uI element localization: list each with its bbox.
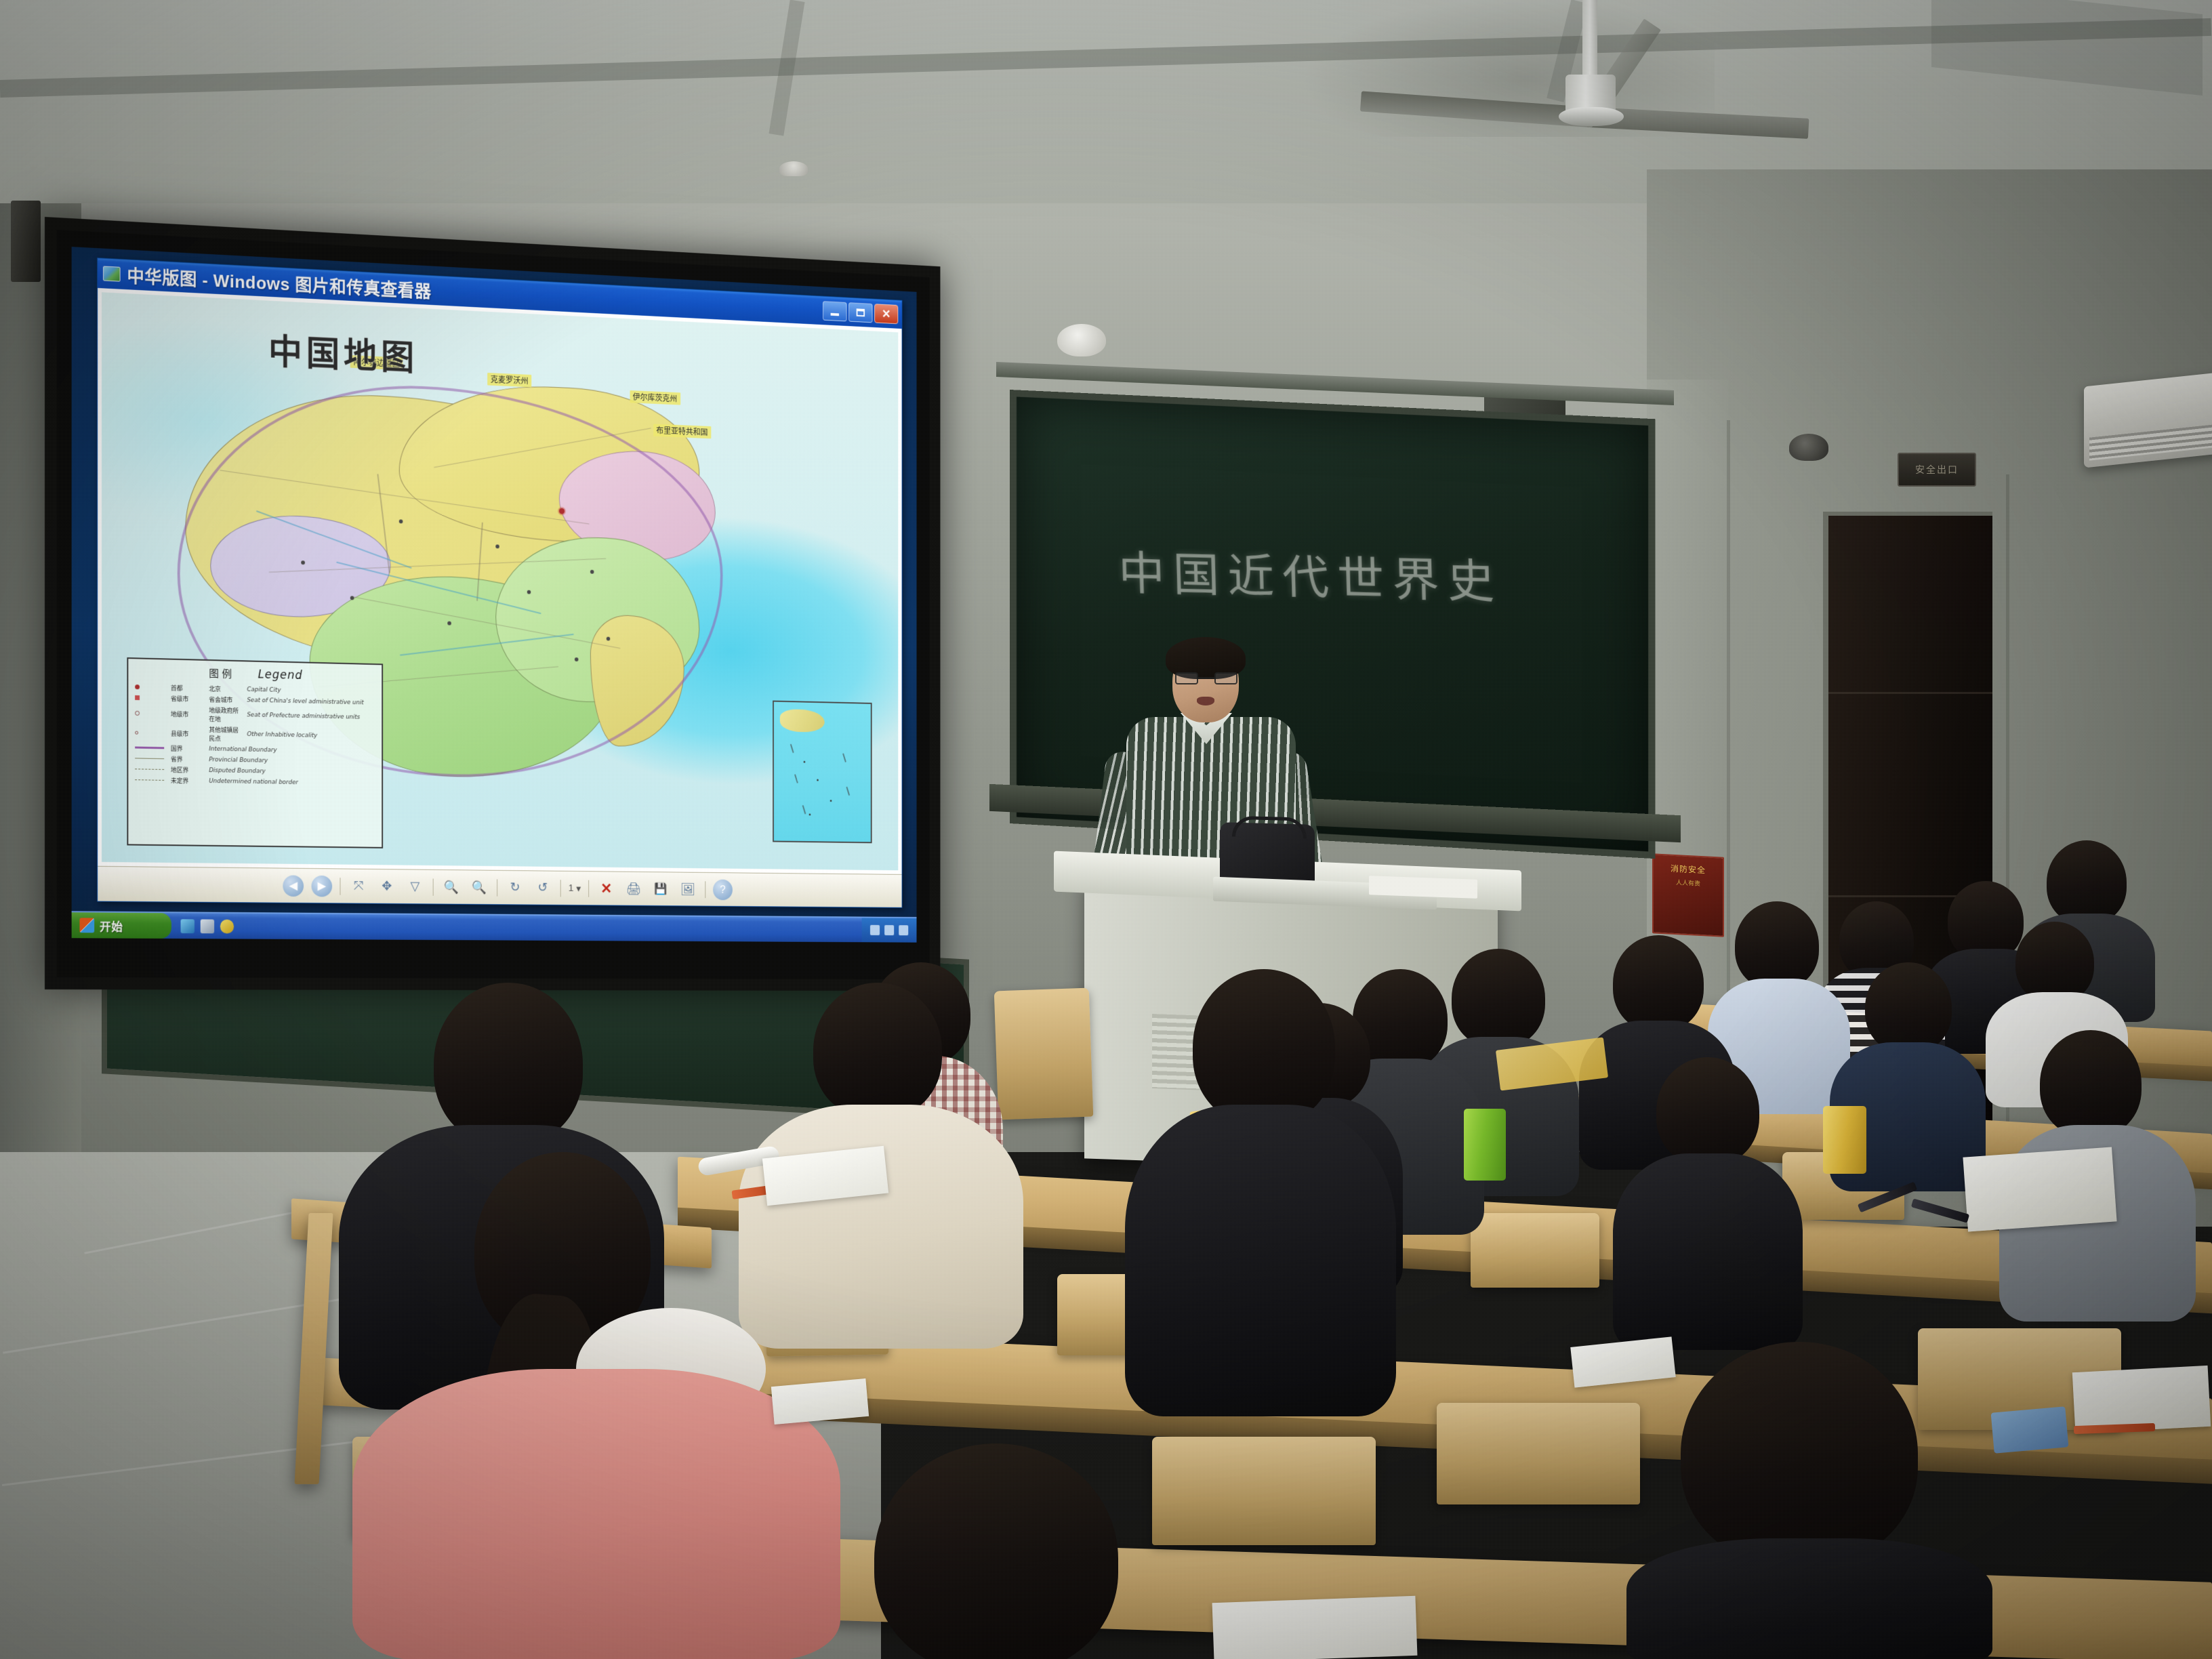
- tray-network-icon[interactable]: [870, 925, 880, 935]
- screen-frame: 中华版图 - Windows 图片和传真查看器 ✕: [57, 230, 930, 979]
- toolbar-separator: [497, 879, 497, 896]
- delete-button[interactable]: ✕: [596, 878, 616, 899]
- start-button-label: 开始: [100, 917, 123, 934]
- legend-symbol-undetermined-border: [135, 777, 167, 784]
- air-conditioner: [2084, 372, 2212, 468]
- fan-hub-ring: [1559, 107, 1624, 126]
- student-head: [813, 983, 942, 1118]
- media-icon[interactable]: [220, 919, 234, 933]
- page-number-value: 1: [569, 882, 574, 893]
- blue-eraser-case: [1991, 1406, 2069, 1453]
- student-pink-coat-ponytail: [352, 1152, 840, 1659]
- legend-symbol-disputed-border: [135, 766, 167, 773]
- ceiling-fan: [1457, 0, 1728, 176]
- inset-island-dot: [830, 800, 832, 802]
- legend-heading-cn: 图 例: [209, 666, 232, 681]
- toolbar-separator: [560, 880, 561, 897]
- legend-label-cn: 首都: [171, 683, 205, 693]
- classroom-photo-scene: 安全出口 消防安全 人人有责 中国近代世界史 中华版图 - Windows 图片…: [0, 0, 2212, 1659]
- legend-symbol-province: [135, 695, 167, 702]
- save-as-icon[interactable]: 💾: [651, 878, 670, 899]
- student-dark-jacket-right-near: [1613, 1057, 1803, 1342]
- rotate-counterclockwise-button[interactable]: ↺: [533, 878, 553, 899]
- student-head: [1193, 969, 1335, 1125]
- legend-label-en: Capital City: [247, 687, 281, 694]
- open-notebook: [1963, 1147, 2116, 1231]
- viewer-image-area: 阿尔泰边疆区 克麦罗沃州 伊尔库茨克州 布里亚特共和国 中国地图: [98, 288, 901, 874]
- legend-label-en: International Boundary: [209, 745, 276, 754]
- inset-boundary-dash: [846, 786, 851, 795]
- student-head: [1681, 1342, 1918, 1565]
- legend-symbol-national-border: [135, 744, 167, 752]
- china-map-image: 阿尔泰边疆区 克麦罗沃州 伊尔库茨克州 布里亚特共和国 中国地图: [102, 292, 898, 870]
- fire-safety-sign-line1: 消防安全: [1671, 863, 1706, 876]
- toolbar-separator: [433, 878, 434, 895]
- best-fit-button[interactable]: ⤧: [348, 876, 369, 897]
- inset-island-dot: [809, 813, 811, 815]
- map-city-marker: [399, 519, 403, 523]
- legend-symbol-prefecture: [135, 710, 167, 717]
- student-head: [1865, 962, 1952, 1053]
- student-head: [2047, 840, 2127, 924]
- quick-launch-bar[interactable]: [171, 919, 234, 933]
- screen-mount-bracket: [11, 201, 41, 282]
- podium-paper: [1369, 876, 1477, 899]
- maximize-restore-button[interactable]: [848, 302, 872, 323]
- student-head: [1613, 935, 1704, 1031]
- legend-label-sub: 省会城市: [209, 695, 243, 705]
- page-number-field[interactable]: 1 ▾: [569, 882, 581, 895]
- student-head: [1735, 901, 1819, 989]
- edit-image-icon[interactable]: 🖼: [678, 879, 697, 900]
- map-highlight-label: 伊尔库茨克州: [630, 390, 680, 405]
- ac-vent: [2089, 424, 2212, 460]
- student-head: [2015, 922, 2094, 1003]
- legend-label-en: Disputed Boundary: [209, 767, 266, 775]
- blackboard-chalk-text: 中国近代世界史: [1118, 535, 1503, 612]
- loose-paper-sheet: [1212, 1596, 1418, 1659]
- picture-fax-viewer-window[interactable]: 中华版图 - Windows 图片和传真查看器 ✕: [97, 258, 902, 908]
- legend-label-en: Provincial Boundary: [209, 756, 268, 764]
- map-city-marker: [447, 621, 451, 625]
- gold-beverage-can: [1823, 1106, 1866, 1174]
- student-black-hoodie-center: [1125, 969, 1396, 1403]
- exit-sign: 安全出口: [1898, 453, 1976, 487]
- rotate-clockwise-button[interactable]: ↻: [505, 877, 525, 898]
- legend-label-en: Undetermined national border: [209, 778, 298, 786]
- browser-icon[interactable]: [181, 919, 194, 933]
- inset-boundary-dash: [790, 744, 794, 753]
- system-tray[interactable]: [862, 918, 917, 942]
- eyeglass-lens-left: [1175, 672, 1198, 684]
- student-foreground-bottom: [800, 1443, 1206, 1659]
- eyeglass-bridge: [1198, 677, 1214, 679]
- previous-image-button[interactable]: ◀: [283, 875, 304, 897]
- legend-label-en: Seat of Prefecture administrative units: [247, 712, 360, 721]
- map-city-marker: [606, 636, 609, 640]
- student-body: [1125, 1105, 1396, 1416]
- tray-ime-icon[interactable]: [899, 925, 908, 935]
- eyeglass-lens-right: [1214, 672, 1237, 684]
- south-china-sea-inset: [773, 701, 872, 843]
- map-city-marker: [350, 596, 354, 600]
- chair-back[interactable]: [1437, 1403, 1640, 1504]
- print-icon[interactable]: 🖨: [623, 878, 643, 899]
- windows-flag-icon: [79, 918, 94, 933]
- legend-row: 未定界 Undetermined national border: [135, 775, 375, 788]
- legend-label-cn: 地级市: [171, 710, 205, 719]
- legend-label-sub: 其他城镇居民点: [209, 725, 243, 743]
- legend-label-sub: 地级政府所在地: [209, 705, 243, 724]
- toolbar-separator: [705, 881, 705, 898]
- inset-boundary-dash: [794, 775, 798, 783]
- legend-symbol-capital: [135, 684, 167, 691]
- zoom-out-icon[interactable]: 🔍: [469, 877, 489, 898]
- inset-island-dot: [817, 779, 819, 781]
- legend-label-cn: 县级市: [171, 729, 205, 738]
- actual-size-button[interactable]: ✥: [377, 876, 397, 897]
- student-body: [1626, 1538, 1992, 1659]
- legend-symbol-town: [135, 729, 167, 737]
- inset-boundary-dash: [802, 805, 806, 814]
- fire-safety-sign-line2: 人人有责: [1676, 878, 1700, 888]
- inset-boundary-dash: [842, 754, 846, 762]
- folder-icon[interactable]: [201, 919, 214, 933]
- windows-taskbar[interactable]: 开始: [72, 911, 917, 942]
- zoom-in-icon[interactable]: 🔍: [441, 876, 462, 897]
- slideshow-button[interactable]: ▽: [405, 876, 425, 897]
- fan-downrod: [1582, 0, 1597, 80]
- student-foreground-bottom-right: [1626, 1342, 1992, 1659]
- legend-label-cn: 省界: [171, 755, 205, 764]
- legend-label-cn: 省级市: [171, 694, 205, 703]
- legend-label-cn: 国界: [171, 744, 205, 754]
- close-button[interactable]: ✕: [874, 304, 898, 324]
- security-camera-icon: [1789, 434, 1828, 461]
- legend-label-en: Other Inhabitive locality: [247, 731, 317, 739]
- minimize-button[interactable]: [823, 301, 846, 321]
- window-controls[interactable]: ✕: [823, 301, 898, 324]
- projected-desktop: 中华版图 - Windows 图片和传真查看器 ✕: [72, 247, 917, 943]
- legend-row: 县级市 其他城镇居民点 Other Inhabitive locality: [135, 724, 375, 746]
- student-body: [1613, 1153, 1803, 1350]
- student-head: [1656, 1057, 1759, 1166]
- toolbar-separator: [340, 878, 341, 895]
- student-head: [2040, 1030, 2142, 1137]
- chair-back[interactable]: [1471, 1213, 1599, 1288]
- eyeglasses-icon: [1175, 672, 1237, 684]
- next-image-button[interactable]: ▶: [312, 875, 333, 897]
- inset-island-dot: [803, 761, 805, 763]
- tray-volume-icon[interactable]: [884, 925, 894, 935]
- legend-label-cn: 未定界: [171, 776, 205, 785]
- door-panel-line: [1828, 692, 1992, 694]
- student-body: [352, 1369, 840, 1659]
- help-icon[interactable]: ?: [713, 879, 733, 900]
- legend-heading-en: Legend: [258, 668, 303, 682]
- lecturer-mouth: [1197, 697, 1214, 705]
- chevron-down-icon[interactable]: ▾: [576, 882, 581, 894]
- projection-screen: 中华版图 - Windows 图片和传真查看器 ✕: [45, 217, 940, 991]
- legend-row: 地级市 地级政府所在地 Seat of Prefecture administr…: [135, 704, 375, 726]
- student-head: [874, 1443, 1118, 1659]
- student-head: [434, 983, 583, 1145]
- smoke-detector-icon: [779, 161, 808, 176]
- map-highlight-label: 克麦罗沃州: [487, 373, 531, 387]
- legend-label-sub: 北京: [209, 684, 243, 694]
- legend-heading: 图 例 Legend: [135, 664, 375, 684]
- picture-fax-viewer-icon: [103, 266, 121, 281]
- toolbar-separator: [588, 880, 589, 897]
- start-button[interactable]: 开始: [72, 912, 171, 939]
- map-legend: 图 例 Legend 首都 北京 Capital City: [127, 657, 383, 848]
- wall-speaker-icon: [1057, 324, 1106, 356]
- legend-symbol-provincial-border: [135, 755, 167, 762]
- legend-label-en: Seat of China's level administrative uni…: [247, 697, 363, 706]
- legend-label-cn: 地区界: [171, 765, 205, 775]
- map-title: 中国地图: [268, 323, 418, 380]
- inset-landmass: [780, 709, 825, 732]
- green-beverage-bottle: [1464, 1109, 1506, 1181]
